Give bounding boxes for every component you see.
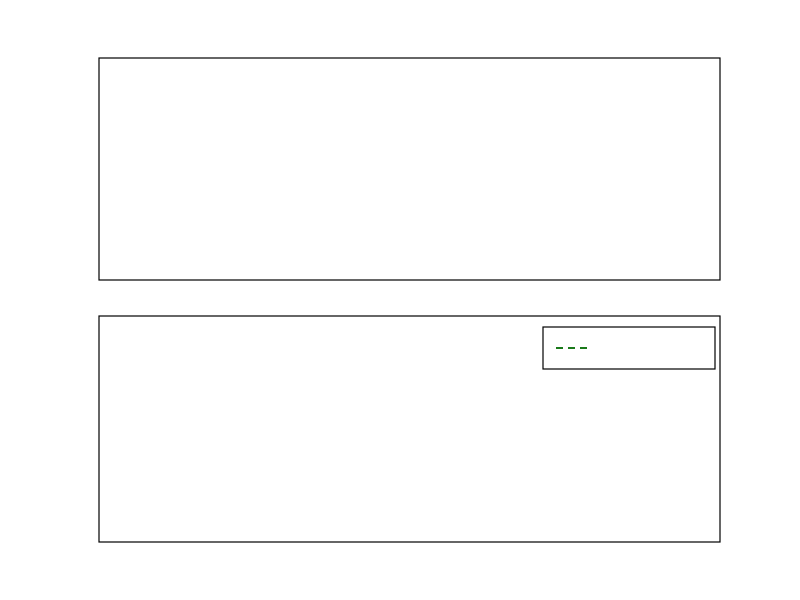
figure-canvas bbox=[0, 0, 800, 600]
chart-svg bbox=[0, 0, 800, 600]
top-panel bbox=[99, 58, 720, 280]
bottom-panel bbox=[99, 316, 720, 542]
top-plot-frame bbox=[99, 58, 720, 280]
legend[interactable] bbox=[543, 327, 715, 369]
